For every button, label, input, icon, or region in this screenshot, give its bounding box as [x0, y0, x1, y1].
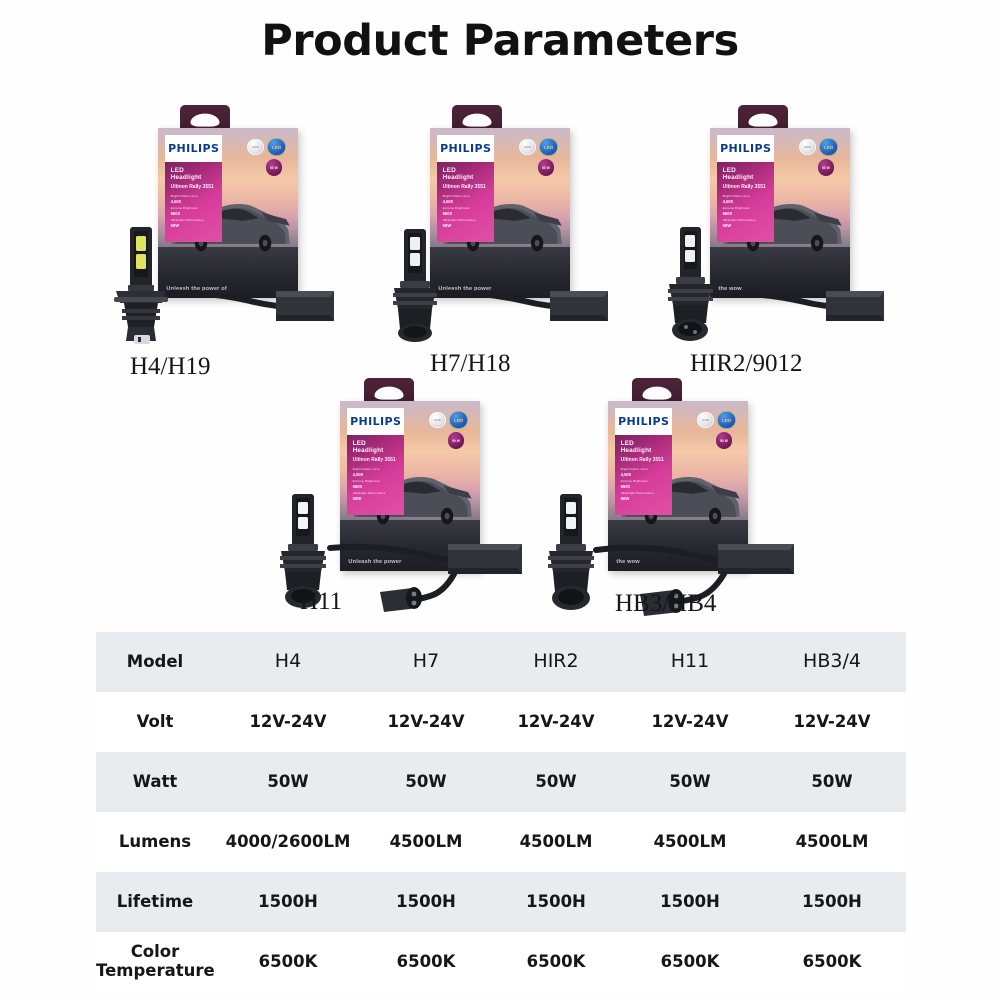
approval-badge-icon: ECE — [247, 139, 264, 156]
philips-logo-panel: PHILIPS — [615, 408, 672, 435]
approval-badge-icon: ECE — [519, 139, 536, 156]
box-badges: ECE LED 50 W — [507, 137, 563, 188]
cell-lumens-h4: 4000/2600LM — [214, 812, 362, 872]
spec-line: Bright Output, Up to 4,500 — [621, 468, 667, 477]
spec-line: Bright Output, Up to 4,500 — [443, 195, 489, 204]
led-badge-icon: LED — [539, 138, 557, 156]
row-label-volt: Volt — [96, 692, 214, 752]
watt-badge-icon: 50 W — [266, 159, 282, 175]
row-label-model: Model — [96, 632, 214, 692]
cell-model-h4: H4 — [214, 632, 362, 692]
cell-lumens-h11: 4500LM — [622, 812, 758, 872]
product-card-h7: PHILIPS LED Headlight Ultinon Rally 3551… — [370, 105, 620, 355]
cell-model-h7: H7 — [362, 632, 490, 692]
cell-colortemp-h7: 6500K — [362, 932, 490, 992]
led-bulb-h4 — [104, 223, 180, 345]
table-row-volt: Volt 12V-24V 12V-24V 12V-24V 12V-24V 12V… — [96, 692, 906, 752]
led-badge-icon: LED — [717, 411, 735, 429]
philips-logo-panel: PHILIPS — [347, 408, 404, 435]
row-label-line2: Temperature — [96, 961, 215, 980]
watt-badge-icon: 50 W — [716, 432, 732, 448]
model-name-text: Ultinon Rally 3551 — [443, 184, 489, 190]
product-line-text: LED Headlight — [443, 167, 489, 181]
approval-badge-icon: ECE — [429, 412, 446, 429]
cell-volt-hb34: 12V-24V — [758, 692, 906, 752]
product-line-text: LED Headlight — [723, 167, 769, 181]
product-caption-hir2: HIR2/9012 — [690, 350, 803, 378]
cell-lumens-h7: 4500LM — [362, 812, 490, 872]
cell-lifetime-h11: 1500H — [622, 872, 758, 932]
cell-lifetime-hb34: 1500H — [758, 872, 906, 932]
led-bulb-hb3 — [534, 490, 614, 614]
cell-lumens-hb34: 4500LM — [758, 812, 906, 872]
watt-badge-icon: 50 W — [448, 432, 464, 448]
box-spec-panel: LED Headlight Ultinon Rally 3551 Bright … — [615, 435, 672, 515]
model-name-text: Ultinon Rally 3551 — [353, 457, 399, 463]
cell-volt-h4: 12V-24V — [214, 692, 362, 752]
led-badge-icon: LED — [449, 411, 467, 429]
philips-brand-text: PHILIPS — [720, 143, 771, 154]
philips-logo-panel: PHILIPS — [165, 135, 222, 162]
cell-watt-hb34: 50W — [758, 752, 906, 812]
cell-lifetime-h4: 1500H — [214, 872, 362, 932]
product-card-h4: PHILIPS LED Headlight Ultinon Rally 3551… — [100, 105, 350, 355]
cell-volt-h11: 12V-24V — [622, 692, 758, 752]
page-title: Product Parameters — [0, 16, 1000, 66]
cell-volt-hir2: 12V-24V — [490, 692, 622, 752]
spec-line: Bright Output, Up to 4,500 — [171, 195, 217, 204]
model-name-text: Ultinon Rally 3551 — [621, 457, 667, 463]
row-label-lumens: Lumens — [96, 812, 214, 872]
spec-line: Ultrabright Performance 50W — [621, 492, 667, 501]
row-label-line1: Color — [131, 942, 180, 961]
row-label-lifetime: Lifetime — [96, 872, 214, 932]
cell-volt-h7: 12V-24V — [362, 692, 490, 752]
philips-brand-text: PHILIPS — [618, 416, 669, 427]
table-row-model: Model H4 H7 HIR2 H11 HB3/4 — [96, 632, 906, 692]
driver-module — [326, 538, 536, 620]
led-badge-icon: LED — [819, 138, 837, 156]
philips-logo-panel: PHILIPS — [717, 135, 774, 162]
spec-line: Extreme Brightness 6500 — [353, 480, 399, 489]
led-badge-icon: LED — [267, 138, 285, 156]
model-name-text: Ultinon Rally 3551 — [171, 184, 217, 190]
cell-colortemp-hir2: 6500K — [490, 932, 622, 992]
box-badges: ECE LED 50 W — [685, 410, 741, 461]
table-row-watt: Watt 50W 50W 50W 50W 50W — [96, 752, 906, 812]
approval-badge-icon: ECE — [697, 412, 714, 429]
box-badges: ECE LED 50 W — [235, 137, 291, 188]
cell-colortemp-hb34: 6500K — [758, 932, 906, 992]
box-spec-panel: LED Headlight Ultinon Rally 3551 Bright … — [347, 435, 404, 515]
cell-lumens-hir2: 4500LM — [490, 812, 622, 872]
product-caption-h7: H7/H18 — [430, 350, 511, 378]
row-label-watt: Watt — [96, 752, 214, 812]
driver-module — [710, 277, 890, 339]
driver-module — [432, 277, 612, 339]
product-caption-h11: H11 — [300, 588, 342, 616]
cell-model-hir2: HIR2 — [490, 632, 622, 692]
cell-colortemp-h11: 6500K — [622, 932, 758, 992]
table-row-color-temperature: Color Temperature 6500K 6500K 6500K 6500… — [96, 932, 906, 992]
spec-line: Bright Output, Up to 4,500 — [723, 195, 769, 204]
driver-module — [158, 277, 338, 339]
product-caption-h4: H4/H19 — [130, 353, 211, 381]
product-line-text: LED Headlight — [621, 440, 667, 454]
cell-watt-hir2: 50W — [490, 752, 622, 812]
spec-line: Extreme Brightness 6500 — [443, 207, 489, 216]
specification-table: Model H4 H7 HIR2 H11 HB3/4 Volt 12V-24V … — [96, 632, 906, 992]
product-card-hir2: PHILIPS LED Headlight Ultinon Rally 3551… — [640, 105, 900, 355]
led-bulb-hir2 — [654, 223, 728, 347]
cell-watt-h11: 50W — [622, 752, 758, 812]
spec-line: Bright Output, Up to 4,500 — [353, 468, 399, 477]
watt-badge-icon: 50 W — [538, 159, 554, 175]
led-bulb-h7 — [380, 225, 452, 345]
table-row-lumens: Lumens 4000/2600LM 4500LM 4500LM 4500LM … — [96, 812, 906, 872]
cell-watt-h7: 50W — [362, 752, 490, 812]
approval-badge-icon: ECE — [799, 139, 816, 156]
product-parameters-page: Product Parameters — [0, 0, 1000, 1000]
product-line-text: LED Headlight — [171, 167, 217, 181]
philips-brand-text: PHILIPS — [350, 416, 401, 427]
cell-colortemp-h4: 6500K — [214, 932, 362, 992]
spec-line: Extreme Brightness 6500 — [621, 480, 667, 489]
product-line-text: LED Headlight — [353, 440, 399, 454]
spec-line: Extreme Brightness 6500 — [723, 207, 769, 216]
cell-model-h11: H11 — [622, 632, 758, 692]
philips-logo-panel: PHILIPS — [437, 135, 494, 162]
model-name-text: Ultinon Rally 3551 — [723, 184, 769, 190]
cell-watt-h4: 50W — [214, 752, 362, 812]
cell-lifetime-hir2: 1500H — [490, 872, 622, 932]
product-card-h11: PHILIPS LED Headlight Ultinon Rally 3551… — [260, 378, 520, 628]
retail-box: PHILIPS LED Headlight Ultinon Rally 3551… — [710, 128, 850, 298]
cell-lifetime-h7: 1500H — [362, 872, 490, 932]
product-card-hb3: PHILIPS LED Headlight Ultinon Rally 3551… — [530, 378, 800, 628]
philips-brand-text: PHILIPS — [440, 143, 491, 154]
watt-badge-icon: 50 W — [818, 159, 834, 175]
row-label-color-temperature: Color Temperature — [96, 932, 214, 992]
box-badges: ECE LED 50 W — [417, 410, 473, 461]
spec-line: Extreme Brightness 6500 — [171, 207, 217, 216]
cell-model-hb34: HB3/4 — [758, 632, 906, 692]
box-badges: ECE LED 50 W — [787, 137, 843, 188]
philips-brand-text: PHILIPS — [168, 143, 219, 154]
product-caption-hb3: HB3/HB4 — [615, 590, 716, 618]
spec-line: Ultrabright Performance 50W — [723, 219, 769, 228]
spec-line: Ultrabright Performance 50W — [353, 492, 399, 501]
table-row-lifetime: Lifetime 1500H 1500H 1500H 1500H 1500H — [96, 872, 906, 932]
